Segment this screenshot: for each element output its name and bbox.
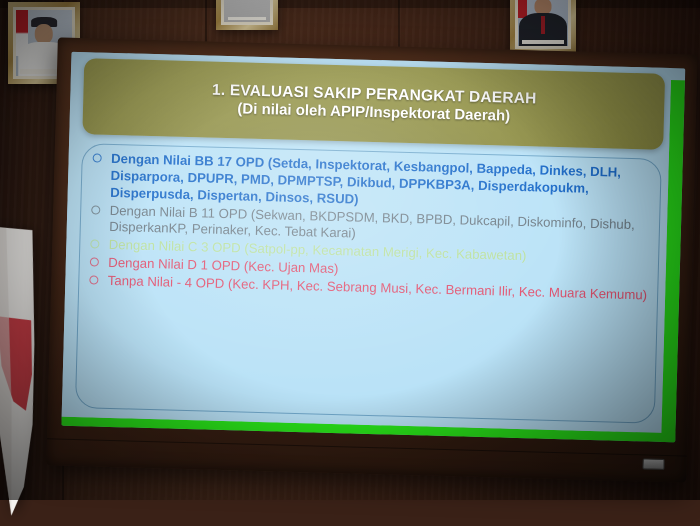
portrait-mat bbox=[221, 0, 273, 25]
slide-content-area: 1. EVALUASI SAKIP PERANGKAT DAERAH (Di n… bbox=[61, 52, 671, 434]
portrait-image bbox=[224, 0, 270, 22]
portrait-tie bbox=[541, 16, 545, 34]
bullet-circle-icon bbox=[90, 257, 99, 266]
meeting-room-wall: 1. EVALUASI SAKIP PERANGKAT DAERAH (Di n… bbox=[0, 0, 700, 500]
bullet-list: Dengan Nilai BB 17 OPD (Setda, Inspektor… bbox=[88, 151, 651, 304]
slide-bullet-container: Dengan Nilai BB 17 OPD (Setda, Inspektor… bbox=[75, 143, 661, 423]
screen-bezel-seam bbox=[47, 438, 687, 456]
portrait-caption-plate bbox=[228, 17, 267, 20]
portrait-caption-plate bbox=[522, 40, 564, 44]
screen-brand-plate bbox=[642, 458, 664, 470]
slide-title: 1. EVALUASI SAKIP PERANGKAT DAERAH (Di n… bbox=[211, 81, 536, 126]
slide-title-box: 1. EVALUASI SAKIP PERANGKAT DAERAH (Di n… bbox=[83, 58, 666, 150]
presentation-slide: 1. EVALUASI SAKIP PERANGKAT DAERAH (Di n… bbox=[61, 52, 685, 442]
projection-screen: 1. EVALUASI SAKIP PERANGKAT DAERAH (Di n… bbox=[61, 52, 685, 442]
portrait-head bbox=[35, 24, 53, 44]
projection-screen-frame: 1. EVALUASI SAKIP PERANGKAT DAERAH (Di n… bbox=[46, 37, 697, 482]
bullet-circle-icon bbox=[91, 240, 100, 249]
portrait-official-right bbox=[510, 0, 576, 54]
bullet-circle-icon bbox=[90, 275, 99, 284]
portrait-small-top bbox=[216, 0, 278, 30]
list-item-text: Dengan Nilai BB 17 OPD (Setda, Inspektor… bbox=[110, 151, 621, 206]
portrait-mat bbox=[515, 0, 571, 49]
portrait-image bbox=[518, 0, 568, 46]
bullet-circle-icon bbox=[93, 154, 102, 163]
bullet-circle-icon bbox=[92, 205, 101, 214]
wall-top-trim bbox=[0, 0, 700, 8]
